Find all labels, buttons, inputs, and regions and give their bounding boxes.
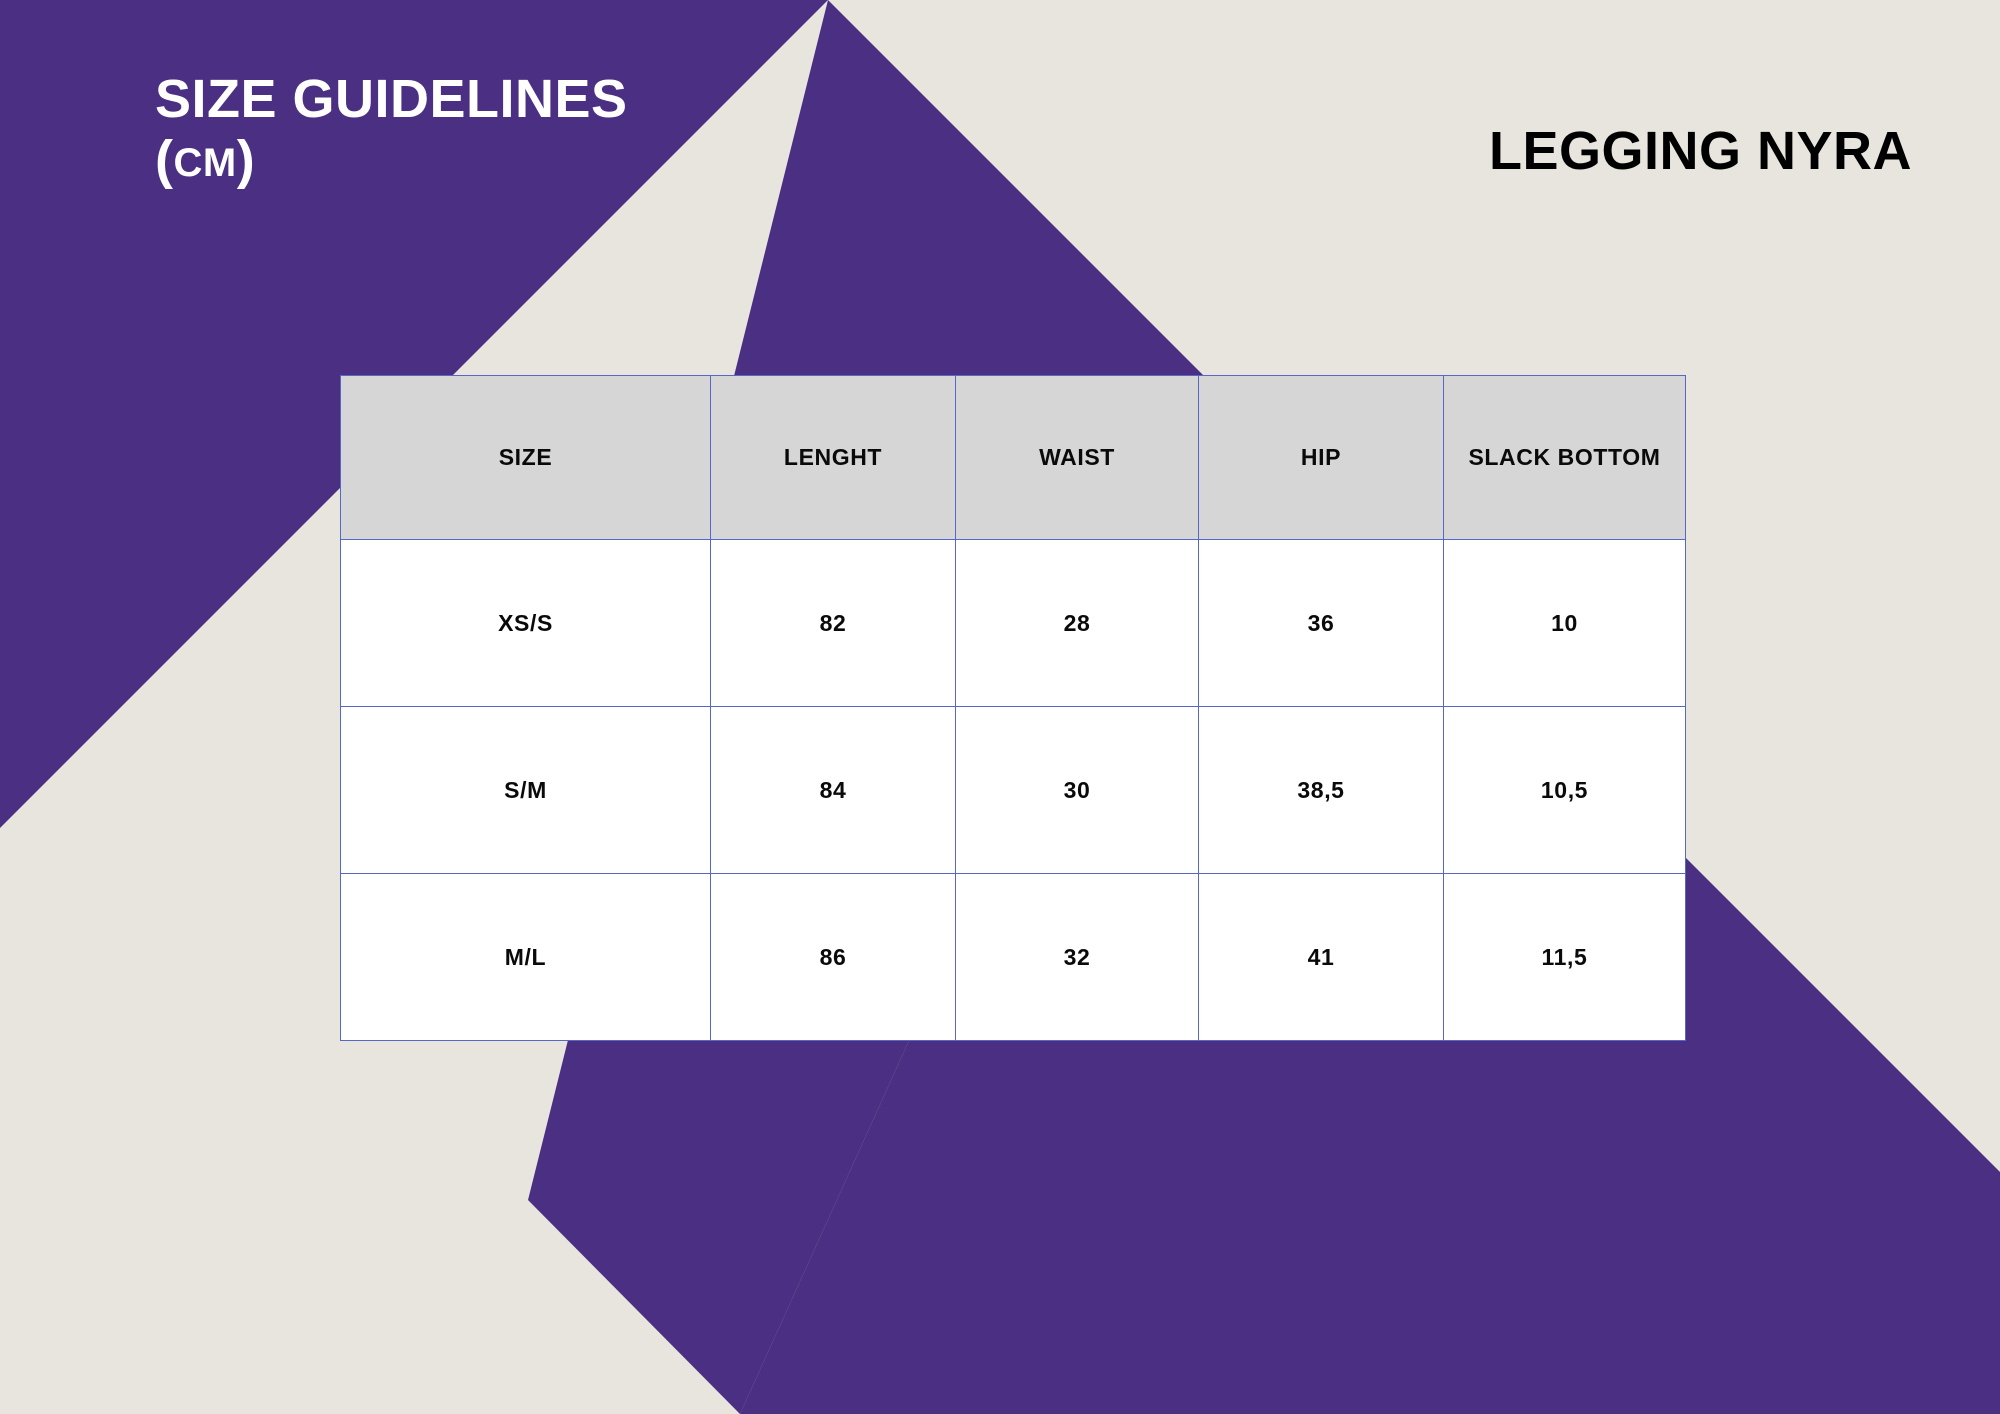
cell-size: XS/S xyxy=(341,540,711,707)
page-title: SIZE GUIDELINES (CM) xyxy=(155,72,795,188)
size-table: SIZE LENGHT WAIST HIP SLACK BOTTOM XS/S … xyxy=(340,375,1686,1041)
cell-slack-bottom: 10 xyxy=(1444,540,1686,707)
page-title-unit: (CM) xyxy=(155,133,795,188)
unit-paren-close: ) xyxy=(237,130,255,190)
table-header: SIZE LENGHT WAIST HIP SLACK BOTTOM xyxy=(341,376,1686,540)
page-title-line1: SIZE GUIDELINES xyxy=(155,72,795,127)
table-row: M/L 86 32 41 11,5 xyxy=(341,874,1686,1041)
cell-slack-bottom: 11,5 xyxy=(1444,874,1686,1041)
size-table-container: SIZE LENGHT WAIST HIP SLACK BOTTOM XS/S … xyxy=(340,375,1685,1041)
cell-lenght: 84 xyxy=(711,707,956,874)
cell-size: S/M xyxy=(341,707,711,874)
cell-hip: 36 xyxy=(1199,540,1444,707)
column-header-hip: HIP xyxy=(1199,376,1444,540)
size-guidelines-page: SIZE GUIDELINES (CM) LEGGING NYRA SIZE L… xyxy=(0,0,2000,1414)
unit-label: CM xyxy=(173,141,236,185)
column-header-waist: WAIST xyxy=(956,376,1199,540)
cell-waist: 32 xyxy=(956,874,1199,1041)
table-body: XS/S 82 28 36 10 S/M 84 30 38,5 10,5 M/L… xyxy=(341,540,1686,1041)
table-header-row: SIZE LENGHT WAIST HIP SLACK BOTTOM xyxy=(341,376,1686,540)
cell-slack-bottom: 10,5 xyxy=(1444,707,1686,874)
cell-lenght: 82 xyxy=(711,540,956,707)
cell-size: M/L xyxy=(341,874,711,1041)
unit-paren-open: ( xyxy=(155,130,173,190)
table-row: S/M 84 30 38,5 10,5 xyxy=(341,707,1686,874)
column-header-slack-bottom: SLACK BOTTOM xyxy=(1444,376,1686,540)
product-title: LEGGING NYRA xyxy=(1489,120,1912,182)
table-row: XS/S 82 28 36 10 xyxy=(341,540,1686,707)
cell-hip: 41 xyxy=(1199,874,1444,1041)
cell-waist: 30 xyxy=(956,707,1199,874)
cell-lenght: 86 xyxy=(711,874,956,1041)
column-header-size: SIZE xyxy=(341,376,711,540)
cell-hip: 38,5 xyxy=(1199,707,1444,874)
column-header-lenght: LENGHT xyxy=(711,376,956,540)
cell-waist: 28 xyxy=(956,540,1199,707)
